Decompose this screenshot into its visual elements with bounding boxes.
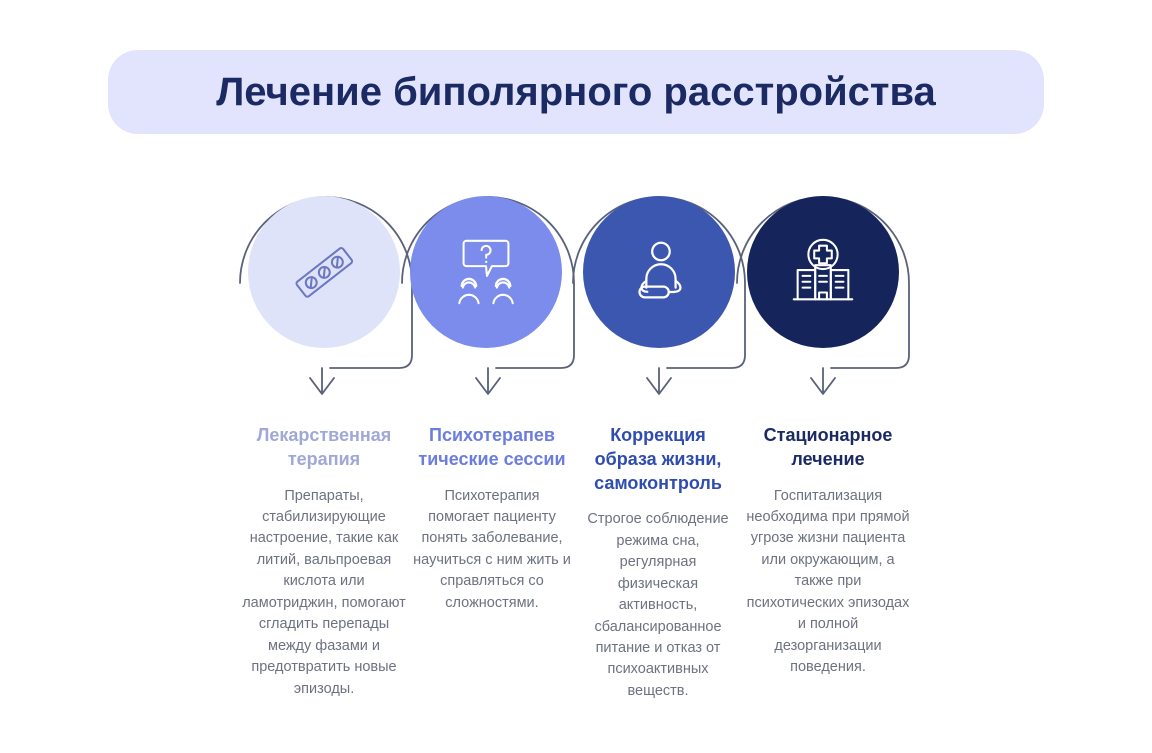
step-heading-lifestyle: Коррекция образа жизни, самоконтроль — [578, 424, 738, 495]
step-circle-psychotherapy[interactable] — [410, 196, 562, 348]
circles-row — [0, 196, 1152, 348]
step-heading-psychotherapy: Психотерапев тические сессии — [412, 424, 572, 472]
step-column-inpatient: Стационарное лечение Госпитализация необ… — [744, 424, 912, 679]
step-heading-inpatient: Стационарное лечение — [744, 424, 912, 472]
step-column-medication: Лекарственная терапия Препараты, стабили… — [238, 424, 410, 700]
infographic-root: Лечение биполярного расстройства — [0, 0, 1152, 753]
step-heading-medication: Лекарственная терапия — [238, 424, 410, 472]
speech-bubble-question-people-icon — [447, 233, 525, 311]
pill-strip-icon — [285, 233, 363, 311]
step-body-lifestyle: Строгое соблюдение режима сна, регулярна… — [578, 509, 738, 702]
step-column-psychotherapy: Психотерапев тические сессии Психотерапи… — [412, 424, 572, 614]
connector-arrow-3 — [647, 368, 671, 394]
connector-arrow-1 — [310, 368, 334, 394]
connector-arrow-4 — [811, 368, 835, 394]
step-circle-lifestyle[interactable] — [583, 196, 735, 348]
hospital-building-icon — [784, 233, 862, 311]
connector-arrow-2 — [476, 368, 500, 394]
steps-text-columns: Лекарственная терапия Препараты, стабили… — [0, 424, 1152, 744]
meditating-person-icon — [620, 233, 698, 311]
step-body-inpatient: Госпитализация необходима при прямой угр… — [744, 486, 912, 679]
step-circle-medication[interactable] — [248, 196, 400, 348]
page-title: Лечение биполярного расстройства — [216, 70, 936, 114]
step-circle-inpatient[interactable] — [747, 196, 899, 348]
step-body-psychotherapy: Психотерапия помогает пациенту понять за… — [412, 486, 572, 615]
step-column-lifestyle: Коррекция образа жизни, самоконтроль Стр… — [578, 424, 738, 702]
step-body-medication: Препараты, стабилизирующие настроение, т… — [238, 486, 410, 701]
title-banner: Лечение биполярного расстройства — [108, 50, 1044, 134]
